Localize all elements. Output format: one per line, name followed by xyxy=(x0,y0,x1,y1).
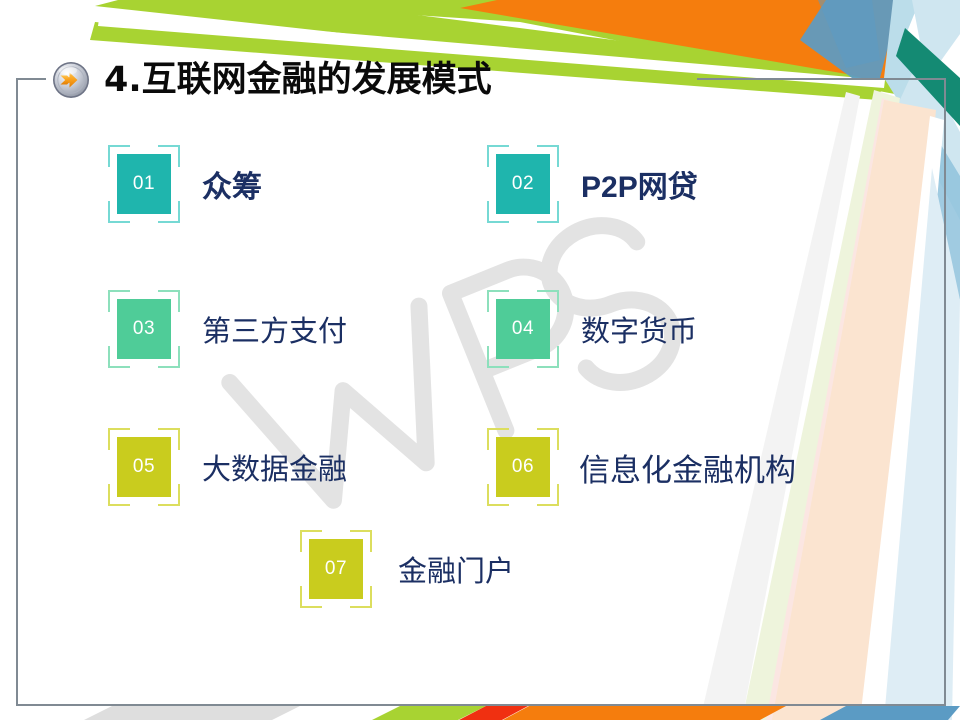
item-label-06: 信息化金融机构 xyxy=(579,445,796,490)
page-title: 4.互联网金融的发展模式 xyxy=(104,63,492,98)
ribbon-steel-blue-right xyxy=(926,140,960,300)
number-label-04: 04 xyxy=(496,299,550,359)
item-label-04: 数字货币 xyxy=(581,308,697,350)
ribbon-teal-dark xyxy=(896,28,960,126)
item-label-07: 金融门户 xyxy=(398,548,514,590)
item-label-05: 大数据金融 xyxy=(202,446,347,488)
slide-canvas: 4.互联网金融的发展模式 01 众筹 02 P2P网贷 xyxy=(0,0,960,720)
ribbon-orange-wedge xyxy=(700,0,905,80)
item-label-03: 第三方支付 xyxy=(202,308,347,350)
list-item-02[interactable]: 02 P2P网贷 xyxy=(487,145,698,223)
number-badge-06: 06 xyxy=(487,428,559,506)
ribbon-bottom-orange xyxy=(503,706,786,720)
ribbon-white-right xyxy=(860,116,944,720)
number-badge-02: 02 xyxy=(487,145,559,223)
title-row: 4.互联网金融的发展模式 xyxy=(52,54,492,106)
list-item-05[interactable]: 05 大数据金融 xyxy=(108,428,347,506)
number-label-02: 02 xyxy=(496,154,550,214)
number-label-01: 01 xyxy=(117,154,171,214)
frame-border-bottom xyxy=(16,704,946,706)
number-label-07: 07 xyxy=(309,539,363,599)
list-item-03[interactable]: 03 第三方支付 xyxy=(108,290,347,368)
ribbon-steel-blue-2 xyxy=(818,0,880,68)
number-badge-04: 04 xyxy=(487,290,559,368)
frame-border-top-left xyxy=(16,78,46,80)
ribbon-orange-band xyxy=(460,0,900,78)
number-badge-05: 05 xyxy=(108,428,180,506)
list-item-06[interactable]: 06 信息化金融机构 xyxy=(487,428,796,506)
ribbon-bottom-red xyxy=(459,706,528,720)
number-label-06: 06 xyxy=(496,437,550,497)
ribbon-gray-right xyxy=(700,92,860,720)
number-badge-03: 03 xyxy=(108,290,180,368)
list-item-04[interactable]: 04 数字货币 xyxy=(487,290,697,368)
frame-border-top-right xyxy=(697,78,946,80)
ribbon-bottom-green xyxy=(372,706,486,720)
ribbon-light-blue-chevron-2 xyxy=(898,0,960,220)
list-item-07[interactable]: 07 金融门户 xyxy=(300,530,514,608)
ribbon-pale-blue-right xyxy=(884,168,960,720)
ribbon-bottom-blue xyxy=(820,706,960,720)
item-label-02: P2P网贷 xyxy=(581,162,698,206)
ribbon-bottom-gray xyxy=(84,706,300,720)
ribbon-steel-blue xyxy=(800,0,900,78)
ribbon-light-blue-chevron xyxy=(884,0,934,132)
number-badge-01: 01 xyxy=(108,145,180,223)
item-label-01: 众筹 xyxy=(202,162,262,206)
arrow-right-circle-icon xyxy=(52,61,90,99)
frame-border-right xyxy=(944,78,946,706)
number-label-03: 03 xyxy=(117,299,171,359)
frame-border-left xyxy=(16,78,18,706)
list-item-01[interactable]: 01 众筹 xyxy=(108,145,262,223)
ribbon-pale-green-right xyxy=(742,90,900,720)
ribbon-peach-right xyxy=(772,100,936,720)
ribbon-pale-pink-right xyxy=(766,98,898,720)
number-label-05: 05 xyxy=(117,437,171,497)
number-badge-07: 07 xyxy=(300,530,372,608)
